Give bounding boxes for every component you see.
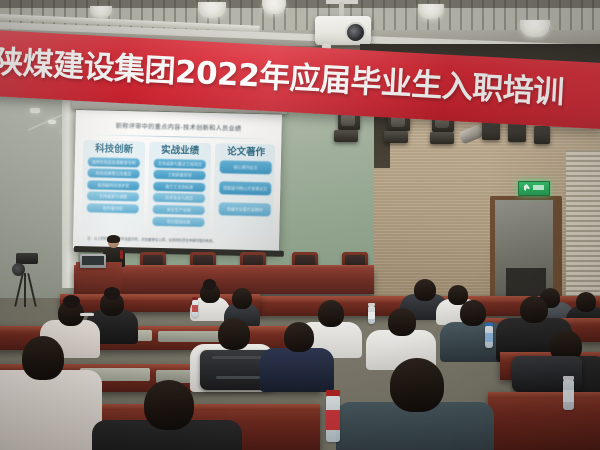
stage-light-body: [334, 130, 358, 142]
attendee-head: [218, 318, 250, 350]
hair-clip: [80, 313, 94, 316]
water-bottle: [563, 380, 574, 410]
stage-light: [508, 122, 526, 142]
attendee-head: [22, 336, 64, 380]
attendee-head: [144, 380, 194, 430]
ceiling-projector: [315, 16, 371, 45]
window-blinds: [566, 150, 600, 300]
stage-light-lens: [341, 114, 355, 126]
bottle-label: [192, 305, 198, 312]
bottle-label: [563, 390, 574, 402]
projector-lens: [345, 22, 366, 43]
bottle-cap: [368, 303, 375, 306]
bottle-cap: [326, 390, 340, 396]
attendee-hair-bun: [63, 295, 80, 308]
presenter-microphone: [120, 250, 123, 259]
desk-row-front-right: [488, 392, 600, 450]
projection-screen: 职称评审中的重点内容-技术创新和人员业绩 科技创新 发明专利及实用新型专利 科技…: [73, 110, 282, 253]
bottle-label: [326, 410, 340, 430]
attendee-head: [460, 300, 486, 326]
attendee-head: [520, 296, 548, 323]
attendee-head: [232, 288, 252, 309]
attendee-torso: [0, 370, 102, 450]
attendee-hair-bun: [104, 287, 120, 300]
water-bottle: [326, 396, 340, 442]
screen-glare: [73, 110, 282, 253]
exit-door-icon: [533, 185, 544, 190]
attendee-head: [318, 300, 344, 327]
attendee-head: [576, 292, 596, 312]
tripod-leg: [27, 273, 37, 307]
backpack-strap: [216, 376, 260, 379]
stage-light-body: [384, 131, 408, 143]
bottle-cap: [485, 323, 493, 326]
wall-glint: [30, 108, 40, 113]
water-bottle: [192, 300, 198, 317]
stage-light-body: [430, 132, 454, 144]
bottle-label: [485, 333, 493, 342]
tripod-video-camera: [10, 253, 44, 305]
desk-top-edge: [60, 294, 260, 300]
attendee-head: [284, 322, 314, 352]
attendee-torso: [260, 348, 334, 392]
attendee-head: [388, 308, 416, 336]
tripod-leg: [24, 273, 26, 307]
water-bottle: [368, 306, 375, 324]
tripod-leg: [14, 273, 24, 307]
bottle-cap: [192, 297, 198, 300]
attendee-hair-bun: [203, 279, 216, 290]
desk-top-edge: [488, 392, 600, 398]
backpack-strap: [212, 356, 262, 359]
water-bottle: [485, 326, 493, 348]
presenter-laptop: [80, 254, 106, 268]
presenter-hair: [107, 235, 120, 243]
photo-scene: 职称评审中的重点内容-技术创新和人员业绩 科技创新 发明专利及实用新型专利 科技…: [0, 0, 600, 450]
bottle-cap: [563, 376, 574, 380]
attendee-head: [390, 358, 444, 412]
stage-light: [534, 126, 550, 144]
laptop-screen: [82, 256, 104, 265]
attendee-head: [414, 279, 436, 301]
desk-panel: [158, 331, 222, 342]
bottle-label: [368, 312, 375, 319]
